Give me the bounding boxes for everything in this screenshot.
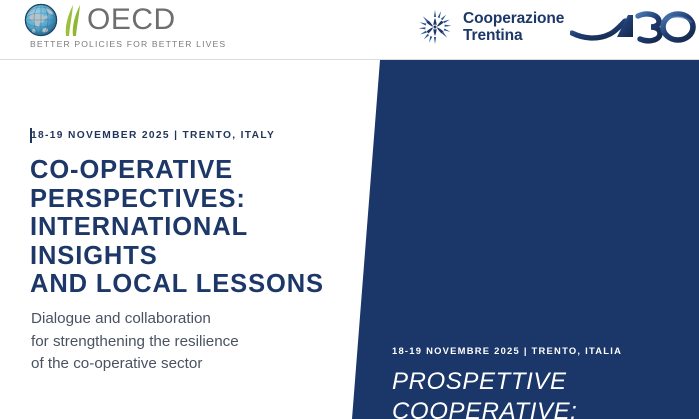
header-divider (0, 59, 699, 60)
cooperazione-trentina-logo: Cooperazione Trentina (415, 4, 699, 50)
oecd-logo: OECD BETTER POLICIES FOR BETTER LIVES (24, 2, 234, 54)
oecd-swoosh-icon (59, 3, 85, 37)
page-title-it: PROSPETTIVE COOPERATIVE: (392, 367, 692, 419)
ct-line-1: Cooperazione (463, 10, 564, 27)
event-poster: OECD BETTER POLICIES FOR BETTER LIVES (0, 0, 699, 419)
sunburst-emblem-icon (415, 7, 455, 47)
globe-icon (24, 3, 58, 37)
event-date-location-en: 18-19 NOVEMBER 2025 | TRENTO, ITALY (31, 130, 275, 141)
poster-header: OECD BETTER POLICIES FOR BETTER LIVES (0, 0, 699, 60)
oecd-wordmark: OECD (87, 3, 176, 37)
130-anniversary-icon (570, 6, 699, 48)
italian-content-pane: 18-19 NOVEMBRE 2025 | TRENTO, ITALIA PRO… (380, 60, 699, 419)
cooperazione-trentina-wordmark: Cooperazione Trentina (463, 10, 564, 44)
english-content-pane: 18-19 NOVEMBER 2025 | TRENTO, ITALY CO-O… (0, 60, 360, 419)
ct-line-2: Trentina (463, 27, 564, 44)
oecd-tagline: BETTER POLICIES FOR BETTER LIVES (30, 39, 226, 49)
page-subtitle-en: Dialogue and collaboration for strengthe… (31, 308, 351, 376)
oecd-logo-row: OECD (24, 2, 234, 38)
event-date-location-it: 18-19 NOVEMBRE 2025 | TRENTO, ITALIA (392, 345, 622, 356)
page-title-en: CO-OPERATIVE PERSPECTIVES: INTERNATIONAL… (30, 156, 370, 299)
